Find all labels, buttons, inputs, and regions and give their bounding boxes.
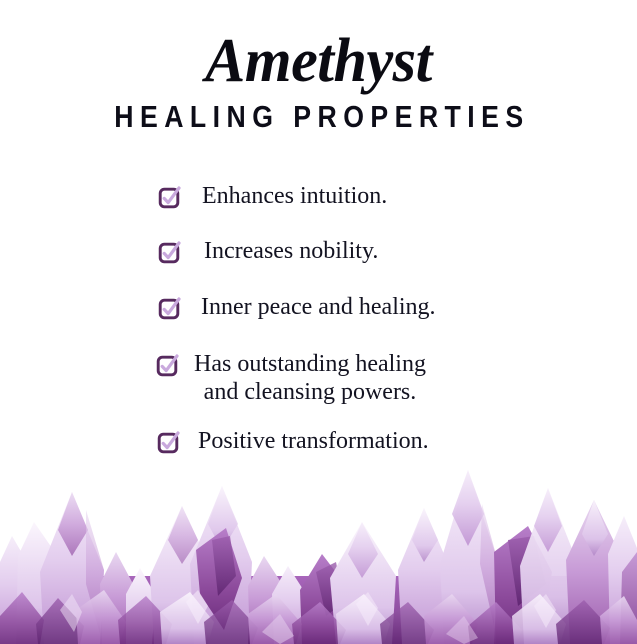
list-item-label: Has outstanding healing and cleansing po…: [178, 350, 426, 407]
checkbox-checked-icon: [159, 188, 180, 209]
amethyst-crystal-cluster-image: [0, 444, 637, 644]
list-item: Inner peace and healing.: [0, 293, 637, 321]
page-subtitle: HEALING PROPERTIES: [45, 92, 593, 132]
healing-properties-list: Enhances intuition. Increases nobility. …: [0, 182, 637, 455]
list-item-label: Enhances intuition.: [180, 182, 387, 210]
list-item: Has outstanding healing and cleansing po…: [0, 350, 637, 407]
checkbox-checked-icon: [157, 356, 178, 377]
list-item-label: Increases nobility.: [180, 237, 378, 265]
checkbox-checked-icon: [159, 243, 180, 264]
list-item: Enhances intuition.: [0, 182, 637, 210]
list-item: Increases nobility.: [0, 237, 637, 265]
checkbox-checked-icon: [159, 299, 180, 320]
page-title: Amethyst: [10, 30, 628, 92]
list-item-label: Inner peace and healing.: [180, 293, 436, 321]
amethyst-healing-properties-poster: Amethyst HEALING PROPERTIES Enhances int…: [0, 0, 637, 644]
poster-header: Amethyst HEALING PROPERTIES: [0, 0, 637, 132]
